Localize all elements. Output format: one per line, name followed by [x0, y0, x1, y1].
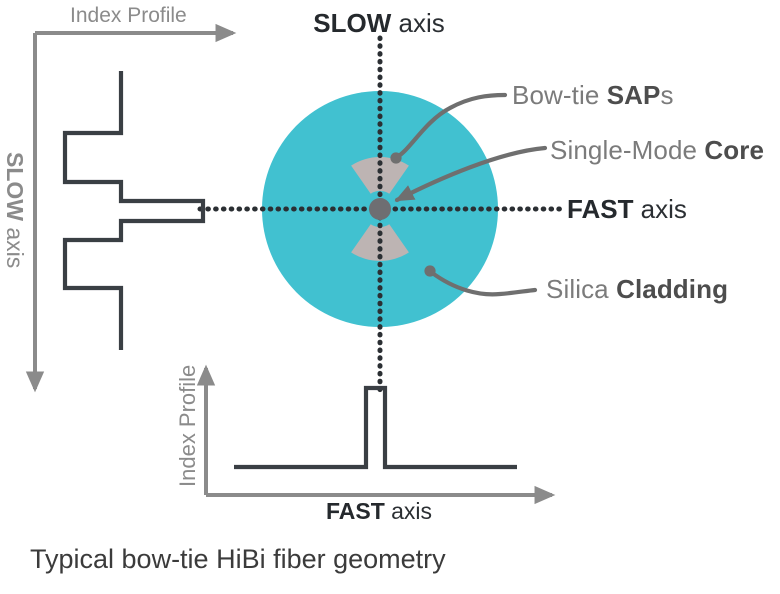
- left-chart-axis-label-strong: SLOW: [2, 152, 28, 221]
- slow-axis-title-strong: SLOW: [313, 8, 391, 38]
- left-chart-title: Index Profile: [70, 5, 187, 26]
- callout-sap-strong: SAP: [607, 80, 661, 110]
- callout-cladding-strong: Cladding: [616, 274, 728, 304]
- left-chart-axis-label-normal: axis: [2, 221, 28, 268]
- cladding-leader-dot: [424, 265, 435, 276]
- left-chart-axis-label: SLOW axis: [3, 152, 26, 268]
- bottom-chart-xlabel: FAST axis: [326, 500, 432, 523]
- bottom-index-profile-trace: [234, 388, 517, 467]
- fast-axis-title: FAST axis: [567, 196, 687, 222]
- fast-axis-title-strong: FAST: [567, 194, 633, 224]
- slow-axis-title-normal: axis: [391, 8, 444, 38]
- callout-sap-prefix: Bow-tie: [512, 80, 607, 110]
- fiber-geometry-figure: SLOW axis FAST axis Index Profile SLOW a…: [0, 0, 780, 594]
- bottom-chart-ylabel: Index Profile: [177, 365, 199, 487]
- sap-leader-dot: [390, 152, 401, 163]
- callout-single-mode-core: Single-Mode Core: [550, 137, 764, 163]
- bottom-chart-xlabel-normal: axis: [385, 498, 432, 524]
- figure-caption: Typical bow-tie HiBi fiber geometry: [30, 546, 446, 573]
- slow-axis-title: SLOW axis: [313, 10, 444, 36]
- fast-axis-title-normal: axis: [633, 194, 686, 224]
- callout-silica-cladding: Silica Cladding: [546, 276, 728, 302]
- callout-core-prefix: Single-Mode: [550, 135, 704, 165]
- callout-core-strong: Core: [704, 135, 764, 165]
- callout-sap-suffix: s: [661, 80, 674, 110]
- left-index-profile-trace: [65, 71, 203, 350]
- callout-cladding-prefix: Silica: [546, 274, 616, 304]
- single-mode-core-dot: [369, 198, 391, 220]
- bottom-chart-xlabel-strong: FAST: [326, 498, 385, 524]
- callout-bow-tie-saps: Bow-tie SAPs: [512, 82, 674, 108]
